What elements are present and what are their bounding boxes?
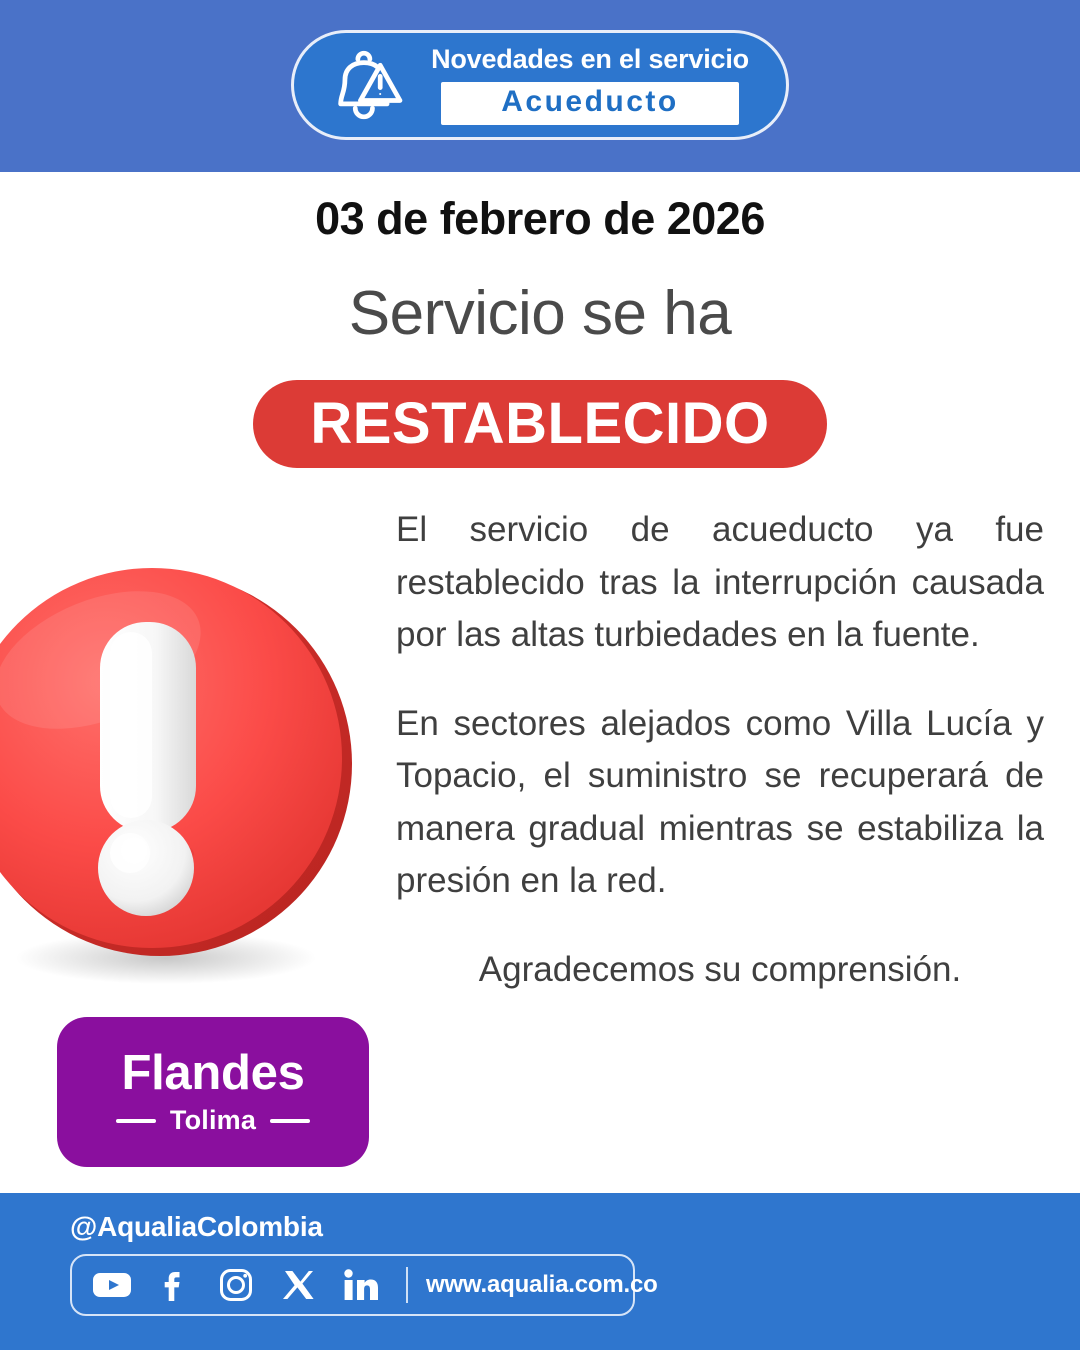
notice-paragraph-1: El servicio de acueducto ya fue restable… [396,504,1044,662]
service-notice-card: Novedades en el servicio Acueducto 03 de… [0,0,1080,1350]
status-badge-label: RESTABLECIDO [310,395,769,453]
linkedin-icon[interactable] [340,1265,380,1305]
x-twitter-icon[interactable] [278,1265,318,1305]
header-title: Novedades en el servicio [431,45,749,75]
header-text-group: Novedades en el servicio Acueducto [416,45,786,124]
dash-right-icon [270,1119,310,1123]
location-city: Flandes [121,1048,304,1099]
footer-social-group: @AqualiaColombia [70,1211,635,1316]
header-pill: Novedades en el servicio Acueducto [291,30,789,140]
exclamation-circle-3d-icon [0,548,378,988]
footer-bar: @AqualiaColombia [0,1193,1080,1350]
dash-left-icon [116,1119,156,1123]
notice-paragraph-3: Agradecemos su comprensión. [396,944,1044,997]
social-handle: @AqualiaColombia [70,1211,635,1243]
status-badge: RESTABLECIDO [253,380,827,468]
location-badge: Flandes Tolima [57,1017,369,1167]
header-subtitle: Acueducto [471,85,709,120]
notice-body: El servicio de acueducto ya fue restable… [396,504,1044,996]
instagram-icon[interactable] [216,1265,256,1305]
header-subtitle-box: Acueducto [441,82,739,125]
youtube-icon[interactable] [92,1265,132,1305]
footer-divider [406,1267,408,1303]
header-banner: Novedades en el servicio Acueducto [0,0,1080,172]
social-links-bar: www.aqualia.com.co [70,1254,635,1316]
notice-date: 03 de febrero de 2026 [0,193,1080,245]
notice-paragraph-2: En sectores alejados como Villa Lucía y … [396,698,1044,908]
facebook-icon[interactable] [154,1265,194,1305]
location-department: Tolima [170,1105,256,1136]
website-url[interactable]: www.aqualia.com.co [426,1271,658,1299]
bell-warning-icon [320,42,406,128]
notice-subtitle: Servicio se ha [0,278,1080,349]
location-department-row: Tolima [116,1105,310,1136]
